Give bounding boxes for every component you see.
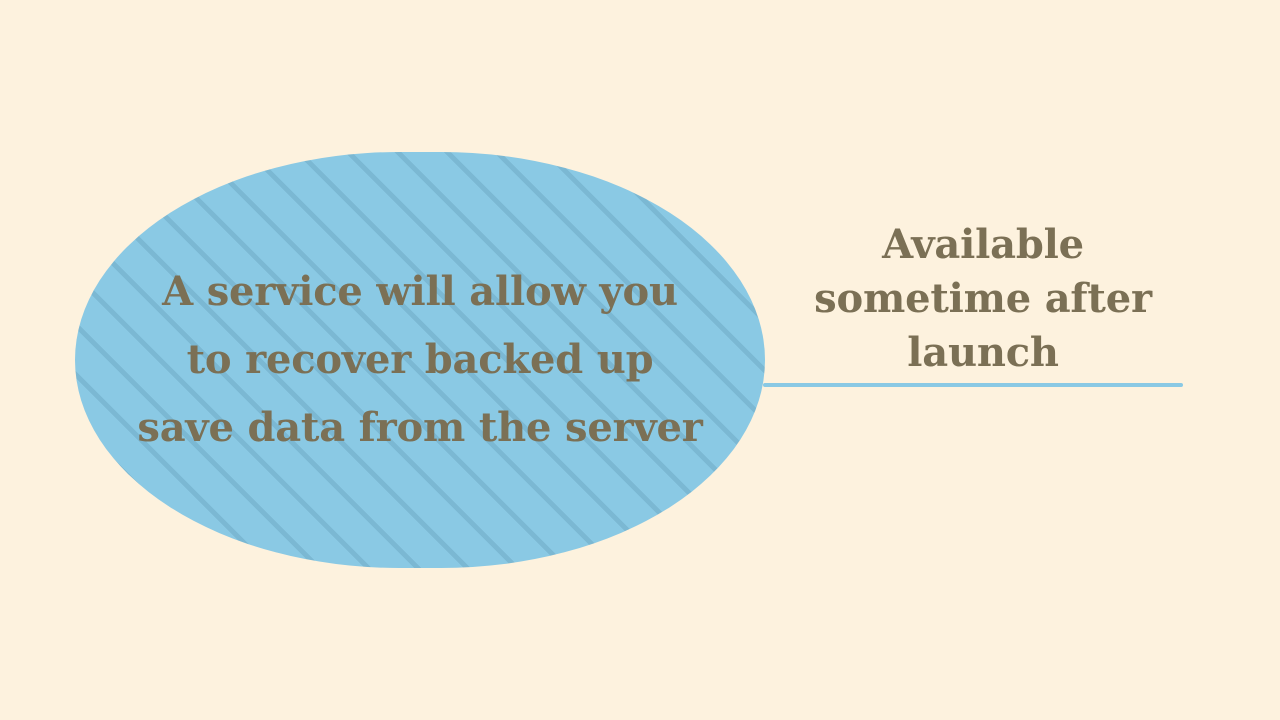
availability-note-line-3: launch — [783, 326, 1183, 380]
slide-canvas: A service will allow you to recover back… — [0, 0, 1280, 720]
hatched-shape-group: A service will allow you to recover back… — [75, 152, 765, 568]
shape-caption-line-3: save data from the server — [137, 394, 702, 462]
shape-caption: A service will allow you to recover back… — [75, 152, 765, 568]
availability-note: Available sometime after launch — [783, 218, 1183, 380]
shape-caption-line-2: to recover backed up — [187, 326, 654, 394]
availability-note-line-1: Available — [783, 218, 1183, 272]
availability-note-line-2: sometime after — [783, 272, 1183, 326]
shape-caption-line-1: A service will allow you — [162, 258, 678, 326]
horizontal-rule — [763, 383, 1183, 387]
